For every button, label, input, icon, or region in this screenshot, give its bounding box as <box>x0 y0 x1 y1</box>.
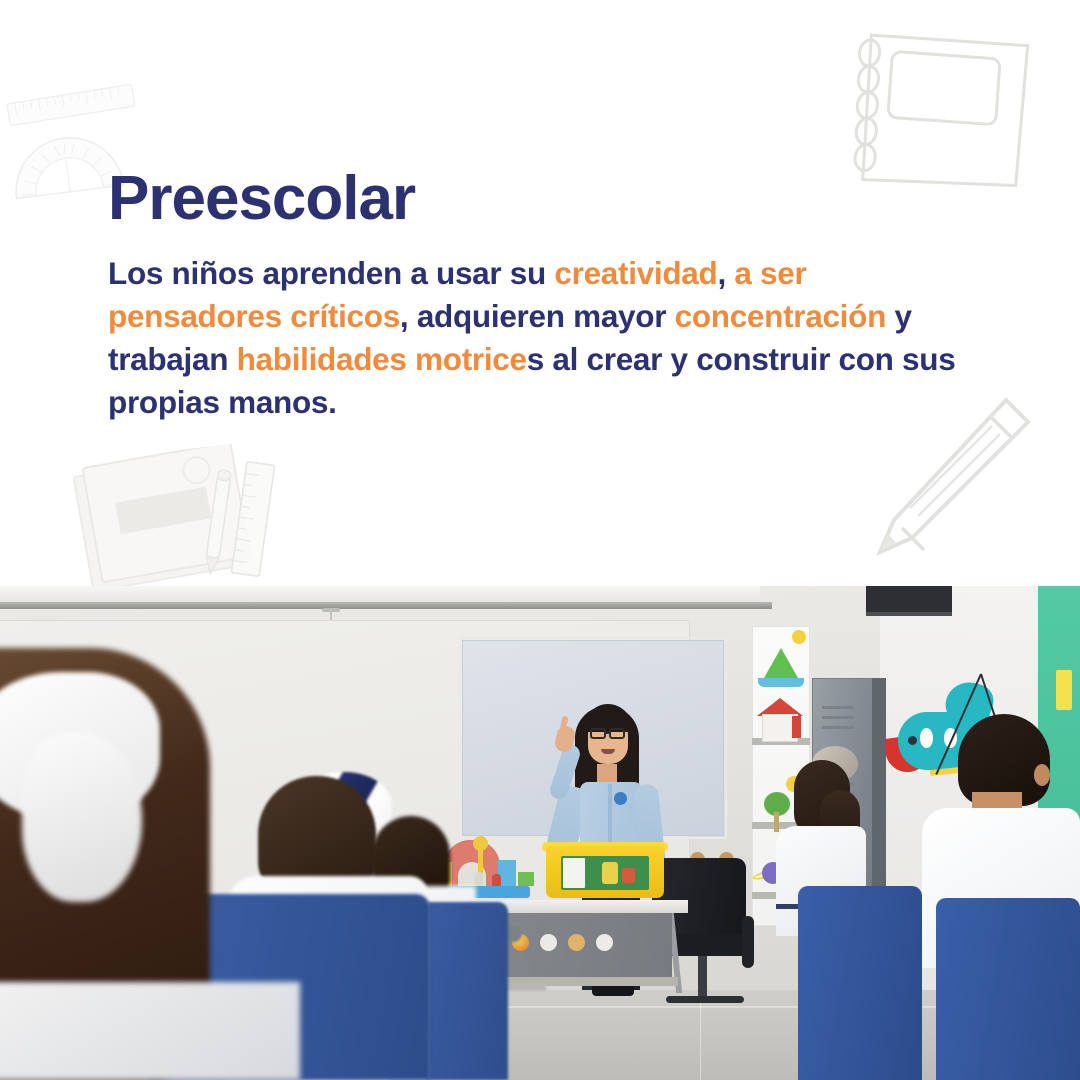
lego-bin-figure <box>602 862 618 884</box>
ruler-icon <box>227 458 279 580</box>
body-text-run: , <box>717 255 734 291</box>
highlighted-phrase: creatividad <box>554 255 717 291</box>
text-panel: Preescolar Los niños aprenden a usar su … <box>0 0 1080 586</box>
office-chair-arm <box>742 916 754 968</box>
locker-vent <box>822 726 854 729</box>
classroom-photo <box>0 586 1080 1080</box>
glasses-icon <box>609 728 625 739</box>
floor-tile-line <box>700 990 701 1080</box>
books-icon <box>71 442 266 586</box>
highlighted-phrase: concentración <box>675 298 886 334</box>
desk-sticker <box>568 934 585 951</box>
locker-vent <box>822 716 854 719</box>
locker-vent <box>822 706 854 709</box>
glasses-bridge <box>606 732 611 734</box>
poster-canvas: Preescolar Los niños aprenden a usar su … <box>0 0 1080 1080</box>
wall-letter <box>1056 670 1072 710</box>
glasses-icon <box>590 728 606 739</box>
desk-sticker <box>540 934 557 951</box>
tree-trunk <box>774 812 779 832</box>
lego-bin-figure <box>622 868 635 883</box>
body-text-run: , adquieren mayor <box>400 298 675 334</box>
highlighted-phrase: habilidades motrice <box>237 341 527 377</box>
curtain-rail <box>0 602 772 609</box>
window <box>866 586 952 616</box>
body-text-run: Los niños aprenden a usar su <box>108 255 554 291</box>
sailboat-hull <box>758 678 804 687</box>
building-block <box>518 872 534 886</box>
pen-icon <box>197 467 238 580</box>
body-paragraph: Los niños aprenden a usar su creatividad… <box>108 252 968 424</box>
student-chair <box>798 886 922 1080</box>
chimney-icon <box>792 716 801 738</box>
office-chair-base <box>666 996 744 1003</box>
page-title: Preescolar <box>108 168 415 230</box>
student-ear <box>1034 764 1050 786</box>
student-uniform-shirt <box>0 982 300 1080</box>
office-chair-post <box>698 954 707 1000</box>
building-block-stick <box>478 842 483 874</box>
ruler-icon <box>4 76 139 136</box>
school-logo-badge <box>614 792 627 805</box>
ceiling-strip <box>0 586 760 602</box>
desk-sticker <box>596 934 613 951</box>
student-chair <box>936 898 1080 1080</box>
sun-icon <box>792 630 806 644</box>
airplane-window <box>920 728 933 748</box>
lego-bin-label-text <box>563 858 585 888</box>
airplane-dot <box>908 736 917 745</box>
spiral-notebook-icon <box>807 1 1064 225</box>
